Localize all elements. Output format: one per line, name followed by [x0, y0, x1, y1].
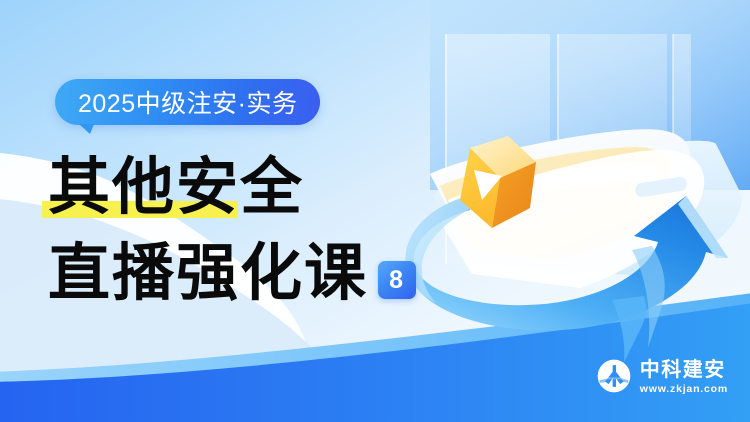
course-badge-pill: 2025中级注安·实务 [55, 79, 320, 125]
brand-logo: 中科建安 www.zkjan.com [597, 359, 728, 395]
title-line-2: 直播强化课 8 [48, 238, 416, 308]
logo-website-url: www.zkjan.com [640, 384, 728, 395]
episode-number-text: 8 [389, 268, 405, 293]
logo-text-group: 中科建安 www.zkjan.com [640, 359, 728, 395]
course-badge-label: 2025中级注安·实务 [78, 84, 297, 120]
episode-number-badge: 8 [378, 261, 416, 299]
logo-company-name: 中科建安 [640, 359, 728, 379]
logo-mark-icon [597, 359, 631, 393]
title-line-2-text: 直播强化课 [48, 238, 368, 308]
course-poster: 2025中级注安·实务 其他安全 直播强化课 8 中科建安 www.zkja [0, 0, 750, 422]
title-line-1: 其他安全 [48, 152, 416, 222]
title-line-1-text: 其他安全 [48, 152, 304, 222]
course-badge: 2025中级注安·实务 [55, 79, 320, 125]
badge-tail-decoration [79, 124, 94, 134]
title-block: 其他安全 直播强化课 8 [48, 152, 416, 308]
